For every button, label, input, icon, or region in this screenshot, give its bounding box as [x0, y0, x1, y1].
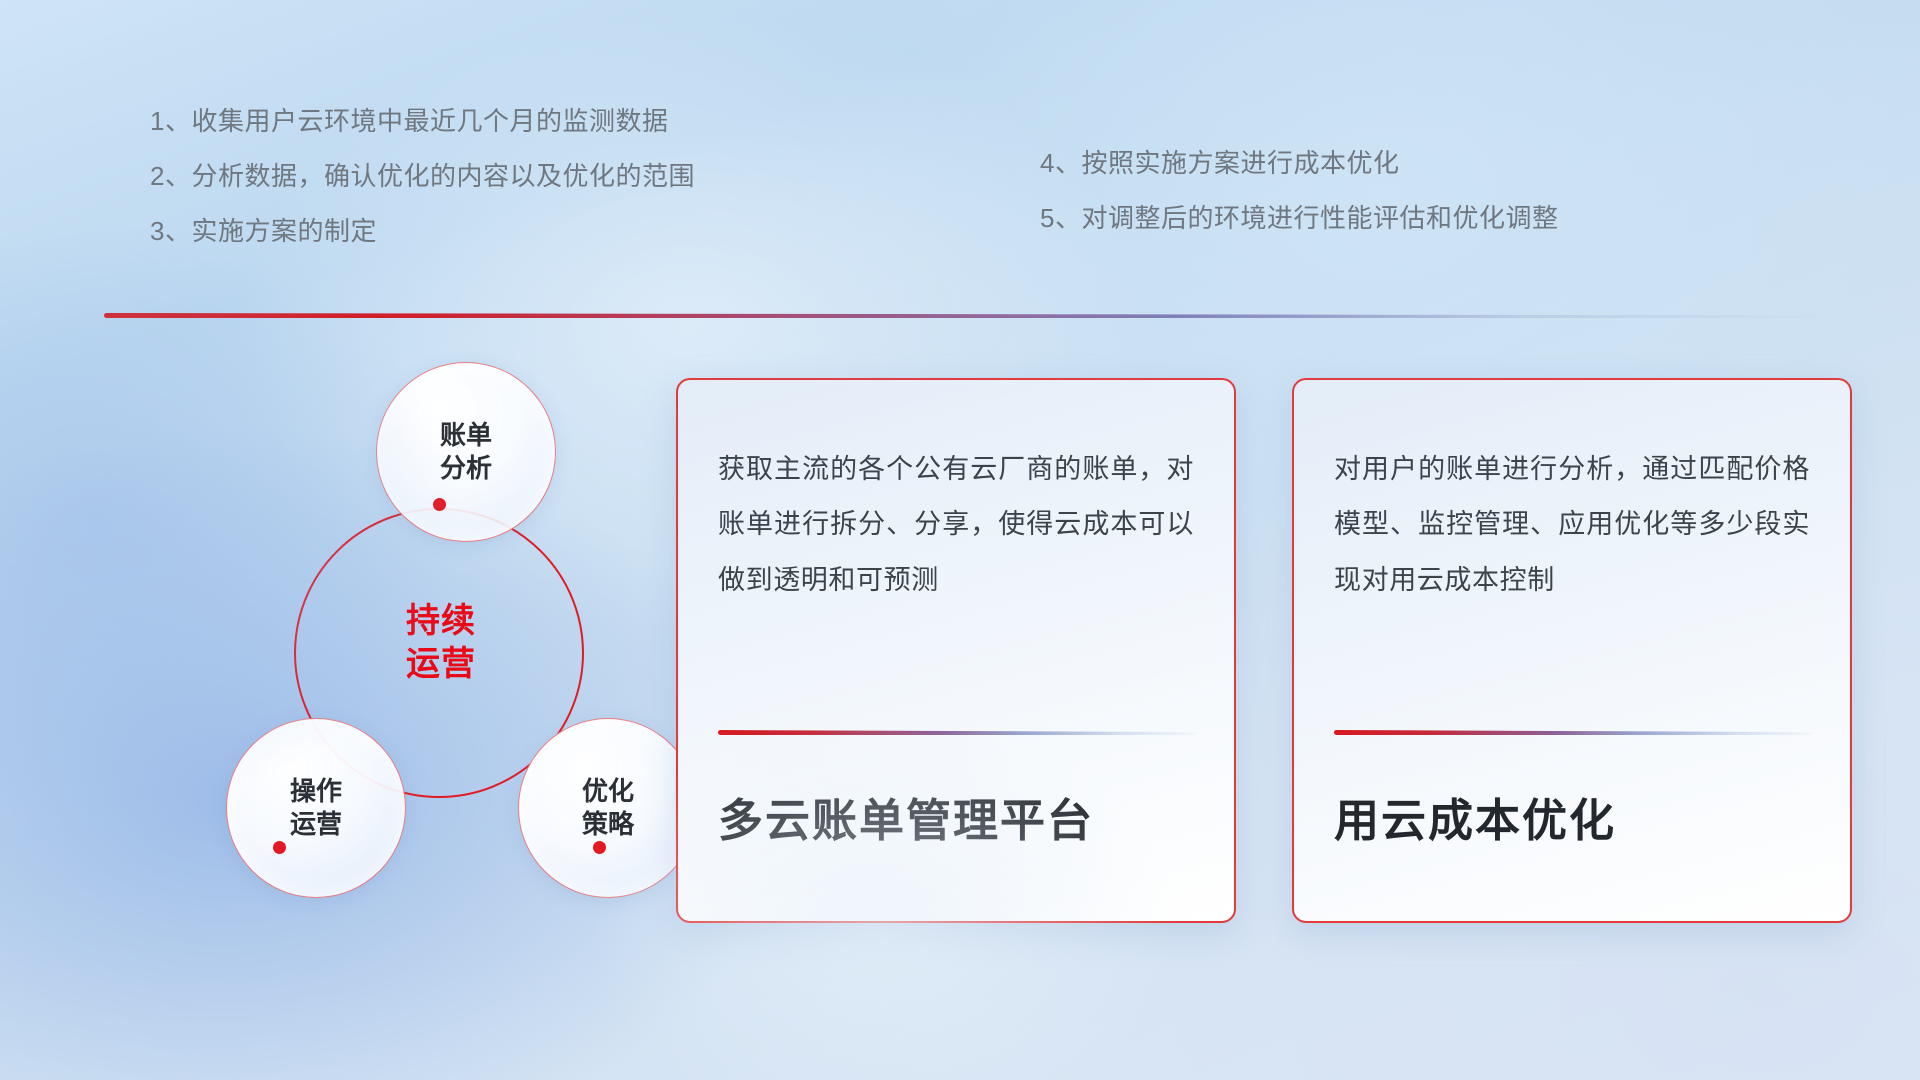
card-cloud-cost-optimization[interactable]: 对用户的账单进行分析，通过匹配价格模型、监控管理、应用优化等多少段实现对用云成本…: [1292, 378, 1852, 923]
step-item: 3、实施方案的制定: [150, 218, 1000, 244]
node-dot-icon: [433, 498, 446, 511]
step-item: 4、按照实施方案进行成本优化: [1040, 150, 1800, 176]
card-title: 用云成本优化: [1334, 784, 1616, 849]
steps-column-left: 1、收集用户云环境中最近几个月的监测数据 2、分析数据，确认优化的内容以及优化的…: [150, 108, 1000, 273]
bubble-label-line1: 优化: [582, 775, 634, 808]
venn-center-line2: 运营: [336, 643, 546, 686]
card-divider: [718, 730, 1198, 735]
cards-row: 获取主流的各个公有云厂商的账单，对账单进行拆分、分享，使得云成本可以做到透明和可…: [676, 378, 1852, 923]
node-dot-icon: [593, 841, 606, 854]
bubble-label-line2: 分析: [440, 452, 492, 485]
steps-list: 1、收集用户云环境中最近几个月的监测数据 2、分析数据，确认优化的内容以及优化的…: [150, 108, 1810, 273]
card-multicloud-billing-platform[interactable]: 获取主流的各个公有云厂商的账单，对账单进行拆分、分享，使得云成本可以做到透明和可…: [676, 378, 1236, 923]
bubble-label-line1: 账单: [440, 419, 492, 452]
venn-bubble-billing-analysis[interactable]: 账单 分析: [376, 362, 556, 542]
venn-center-label: 持续 运营: [336, 600, 546, 685]
venn-diagram: 持续 运营 账单 分析 操作 运营 优化 策略: [98, 348, 638, 948]
section-divider: [104, 313, 1826, 318]
slide-canvas: 1、收集用户云环境中最近几个月的监测数据 2、分析数据，确认优化的内容以及优化的…: [0, 0, 1920, 1080]
card-body-text: 获取主流的各个公有云厂商的账单，对账单进行拆分、分享，使得云成本可以做到透明和可…: [718, 442, 1194, 608]
venn-center-line1: 持续: [336, 600, 546, 643]
card-divider: [1334, 730, 1814, 735]
bubble-label-line2: 运营: [290, 808, 342, 841]
venn-bubble-optimization-strategy[interactable]: 优化 策略: [518, 718, 698, 898]
steps-column-right: 4、按照实施方案进行成本优化 5、对调整后的环境进行性能评估和优化调整: [1040, 108, 1800, 273]
step-item: 2、分析数据，确认优化的内容以及优化的范围: [150, 163, 1000, 189]
node-dot-icon: [273, 841, 286, 854]
venn-bubble-operations[interactable]: 操作 运营: [226, 718, 406, 898]
card-body-text: 对用户的账单进行分析，通过匹配价格模型、监控管理、应用优化等多少段实现对用云成本…: [1334, 442, 1810, 608]
step-item: 5、对调整后的环境进行性能评估和优化调整: [1040, 205, 1800, 231]
bubble-label-line2: 策略: [582, 808, 634, 841]
card-title: 多云账单管理平台: [718, 784, 1094, 849]
bubble-label-line1: 操作: [290, 775, 342, 808]
step-item: 1、收集用户云环境中最近几个月的监测数据: [150, 108, 1000, 134]
